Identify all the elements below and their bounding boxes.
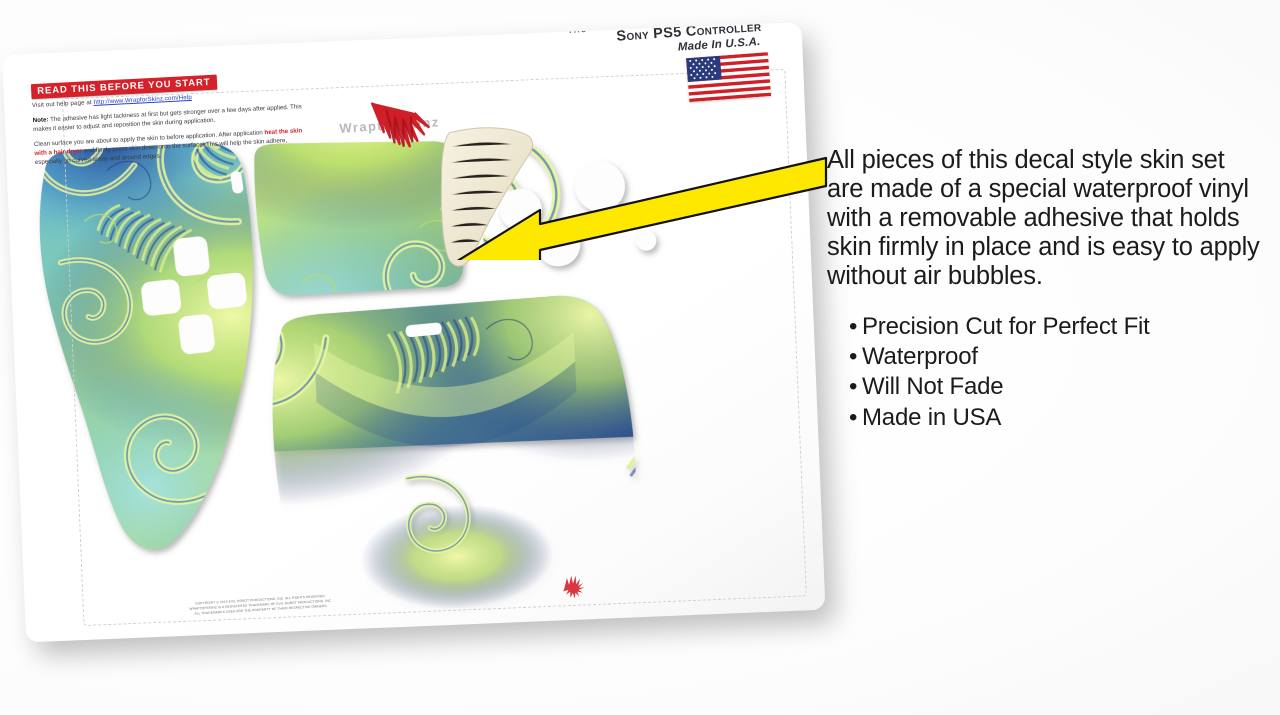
marketing-copy: All pieces of this decal style skin set … [827,146,1265,433]
left-arrow-icon [440,150,830,260]
us-flag-icon [686,52,771,102]
feature-list: •Precision Cut for Perfect Fit •Waterpro… [827,312,1265,433]
bullet-dot: • [849,403,862,433]
bullet-dot: • [849,342,862,372]
bullet-dot: • [849,312,862,342]
list-item: •Precision Cut for Perfect Fit [849,312,1265,342]
note-label: Note: [33,116,49,124]
list-item: •Made in USA [849,403,1265,433]
decal-sheet: READ THIS BEFORE YOU START Visit out hel… [2,22,838,655]
feature-label: Made in USA [862,404,1001,431]
help-url-link[interactable]: http://www.WrapforSkinz.com/Help [93,94,192,106]
list-item: •Waterproof [849,342,1265,372]
feature-label: Waterproof [862,343,978,370]
help-prefix-text: Visit out help page at [32,99,94,109]
product-photo-canvas: READ THIS BEFORE YOU START Visit out hel… [0,0,1280,715]
description-paragraph: All pieces of this decal style skin set … [827,146,1265,291]
feature-label: Precision Cut for Perfect Fit [862,313,1150,340]
bullet-dot: • [849,372,862,402]
sheet-surface: READ THIS BEFORE YOU START Visit out hel… [2,22,825,642]
instruction-block: READ THIS BEFORE YOU START Visit out hel… [31,67,305,167]
feature-label: Will Not Fade [862,373,1003,400]
list-item: •Will Not Fade [849,372,1265,402]
wraptorskinz-watermark [562,574,586,599]
